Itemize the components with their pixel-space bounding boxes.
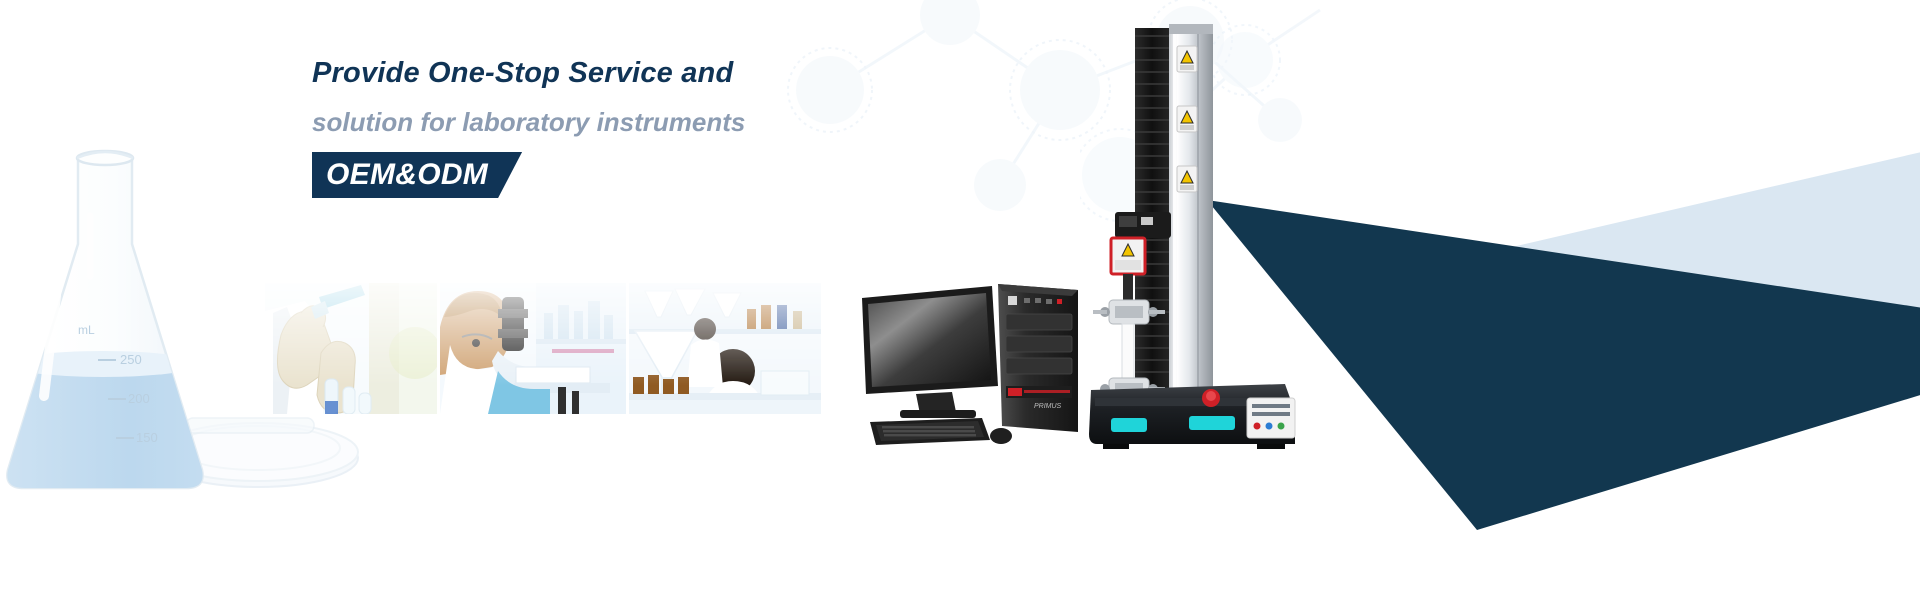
headline-line-1: Provide One-Stop Service and: [312, 56, 1012, 90]
graduation-label: 200: [128, 391, 150, 406]
mouse: [990, 428, 1012, 444]
machine-base: [1089, 384, 1295, 449]
warning-label: [1177, 166, 1197, 192]
warning-label: [1177, 106, 1197, 132]
oem-odm-badge-label: OEM&ODM: [326, 158, 488, 192]
headline-block: Provide One-Stop Service and solution fo…: [312, 56, 1012, 198]
lab-photo-strip: [265, 283, 821, 414]
desktop-computer: PRIMUS: [856, 282, 1086, 452]
headline-line-2: solution for laboratory instruments: [312, 107, 1012, 138]
arrow-pale-blue: [1370, 150, 1920, 470]
pc-tower: PRIMUS: [998, 284, 1078, 432]
cyan-accent-strip: [1189, 416, 1235, 430]
graduation-label: 250: [120, 352, 142, 367]
photo-microscope: [440, 283, 626, 414]
badge-row: OEM&ODM: [312, 152, 1012, 198]
graduation-label: 150: [136, 430, 158, 445]
universal-tensile-testing-machine: [1085, 20, 1305, 450]
load-cell-rod: [1123, 274, 1133, 300]
photo-pipetting: [265, 283, 437, 414]
warning-label: [1177, 46, 1197, 72]
monitor: [862, 286, 998, 418]
arrow-dark-navy: [1207, 190, 1920, 530]
column: [1169, 24, 1213, 390]
specimen: [1122, 324, 1134, 382]
hero-banner: 250 200 150 mL Provide One-Stop Service …: [0, 0, 1920, 597]
tower-brand-mark: PRIMUS: [1034, 403, 1062, 410]
column-rail: [1135, 28, 1169, 390]
glass-rod: [186, 418, 314, 433]
oem-odm-badge: OEM&ODM: [312, 152, 522, 198]
photo-lab-bench: [629, 283, 821, 414]
cyan-accent-strip: [1111, 418, 1147, 432]
keyboard: [870, 418, 990, 445]
unit-label: mL: [78, 323, 95, 337]
